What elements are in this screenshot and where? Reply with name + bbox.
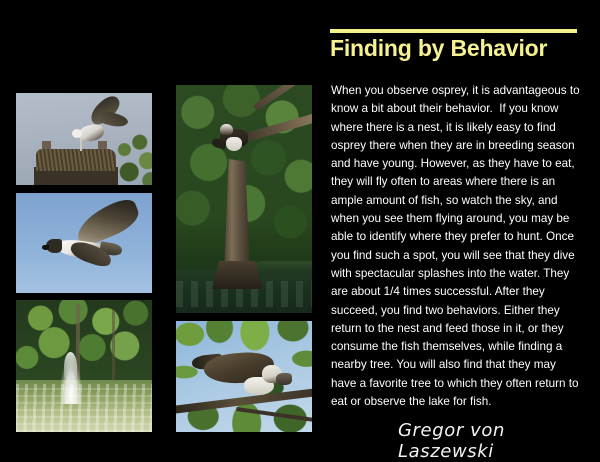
photo-nest-scene xyxy=(16,93,152,185)
photo-stump-scene xyxy=(176,85,312,313)
photo-water-splash[interactable] xyxy=(16,300,152,432)
title-rule xyxy=(330,29,577,33)
photo-osprey-nest[interactable] xyxy=(16,93,152,185)
tree-stump-base xyxy=(212,261,262,289)
osprey-head xyxy=(72,129,82,138)
tree-trunk-right xyxy=(112,310,115,388)
photo-flight-scene xyxy=(16,193,152,293)
far-bank xyxy=(252,261,312,275)
photo-osprey-in-flight[interactable] xyxy=(16,193,152,293)
photo-osprey-eating-fish[interactable] xyxy=(176,321,312,432)
osprey-legs xyxy=(80,139,82,151)
splash-spray xyxy=(64,352,77,382)
osprey-breast xyxy=(226,137,242,151)
author-signature: Gregor von Laszewski xyxy=(398,420,600,462)
photo-osprey-on-stump[interactable] xyxy=(176,85,312,313)
body-paragraph: When you observe osprey, it is advantage… xyxy=(331,82,583,411)
osprey-head xyxy=(220,124,233,135)
osprey-beak xyxy=(42,245,49,250)
photo-eating-scene xyxy=(176,321,312,432)
photo-splash-scene xyxy=(16,300,152,432)
stick-nest xyxy=(36,149,116,171)
water-ripples xyxy=(16,384,152,432)
page-title: Finding by Behavior xyxy=(330,36,590,61)
slide-canvas: Finding by Behavior When you observe osp… xyxy=(0,0,600,450)
caught-fish xyxy=(276,373,292,385)
tree-canopy xyxy=(16,300,152,382)
